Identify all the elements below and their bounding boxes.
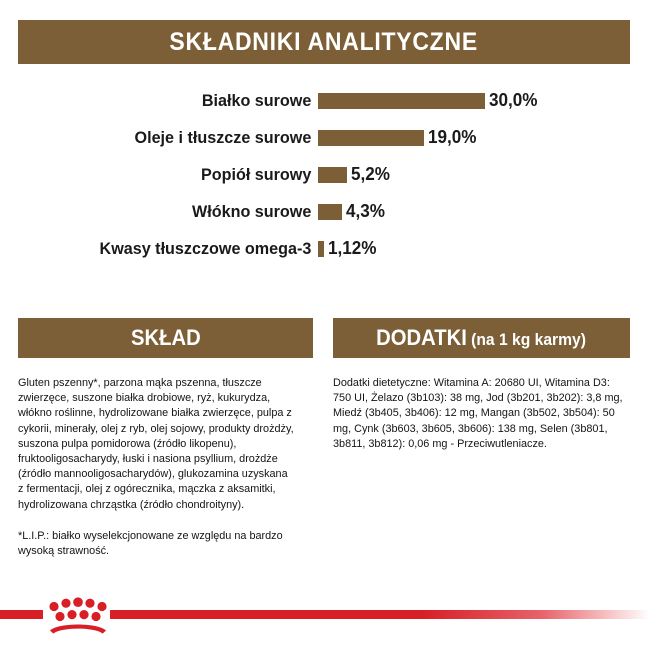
- chart-bar-group: 19,0%: [318, 127, 650, 148]
- additives-heading: DODATKI (na 1 kg karmy): [377, 325, 587, 351]
- chart-bar-group: 4,3%: [318, 201, 650, 222]
- composition-header-band: SKŁAD: [18, 318, 313, 358]
- chart-bar-group: 1,12%: [318, 238, 650, 259]
- additives-column: DODATKI (na 1 kg karmy) Dodatki dietetyc…: [313, 318, 650, 559]
- chart-bar-value: 30,0%: [489, 90, 537, 111]
- chart-bar-label: Oleje i tłuszcze surowe: [16, 128, 318, 148]
- royal-canin-crown-logo-icon: [44, 596, 112, 636]
- chart-bar-value: 5,2%: [351, 164, 390, 185]
- chart-bar-label: Popiół surowy: [16, 165, 318, 185]
- footer-rule-right: [110, 610, 650, 619]
- chart-bar: [318, 204, 342, 220]
- chart-bar: [318, 167, 347, 183]
- additives-heading-sub: (na 1 kg karmy): [467, 330, 586, 349]
- analytical-constituents-chart: Białko surowe 30,0% Oleje i tłuszcze sur…: [0, 82, 650, 267]
- chart-bar-group: 5,2%: [318, 164, 650, 185]
- analytical-constituents-header-band: SKŁADNIKI ANALITYCZNE: [18, 20, 630, 64]
- chart-row: Kwasy tłuszczowe omega-3 1,12%: [0, 230, 650, 267]
- chart-bar: [318, 130, 424, 146]
- chart-row: Oleje i tłuszcze surowe 19,0%: [0, 119, 650, 156]
- info-columns: SKŁAD Gluten pszenny*, parzona mąka psze…: [0, 318, 650, 559]
- product-info-panel: { "header": { "title": "SKŁADNIKI ANALIT…: [0, 0, 650, 650]
- composition-footnote: *L.I.P.: białko wyselekcjonowane ze wzgl…: [18, 529, 294, 559]
- chart-bar-value: 4,3%: [346, 201, 385, 222]
- chart-row: Popiół surowy 5,2%: [0, 156, 650, 193]
- chart-bar-group: 30,0%: [318, 90, 650, 111]
- chart-bar: [318, 93, 485, 109]
- composition-text: Gluten pszenny*, parzona mąka pszenna, t…: [18, 376, 294, 513]
- chart-bar-value: 1,12%: [328, 238, 376, 259]
- chart-bar-label: Kwasy tłuszczowe omega-3: [16, 239, 318, 259]
- chart-bar-label: Białko surowe: [16, 91, 318, 111]
- chart-bar-value: 19,0%: [428, 127, 476, 148]
- chart-bar-label: Włókno surowe: [16, 202, 318, 222]
- footer-rule-left: [0, 610, 43, 619]
- additives-header-band: DODATKI (na 1 kg karmy): [333, 318, 630, 358]
- footer: [0, 596, 650, 640]
- additives-text: Dodatki dietetyczne: Witamina A: 20680 U…: [333, 376, 624, 452]
- additives-heading-main: DODATKI: [377, 325, 468, 350]
- chart-bar: [318, 241, 324, 257]
- chart-row: Białko surowe 30,0%: [0, 82, 650, 119]
- composition-column: SKŁAD Gluten pszenny*, parzona mąka psze…: [0, 318, 313, 559]
- chart-row: Włókno surowe 4,3%: [0, 193, 650, 230]
- page-title: SKŁADNIKI ANALITYCZNE: [170, 28, 478, 57]
- composition-heading: SKŁAD: [131, 325, 201, 351]
